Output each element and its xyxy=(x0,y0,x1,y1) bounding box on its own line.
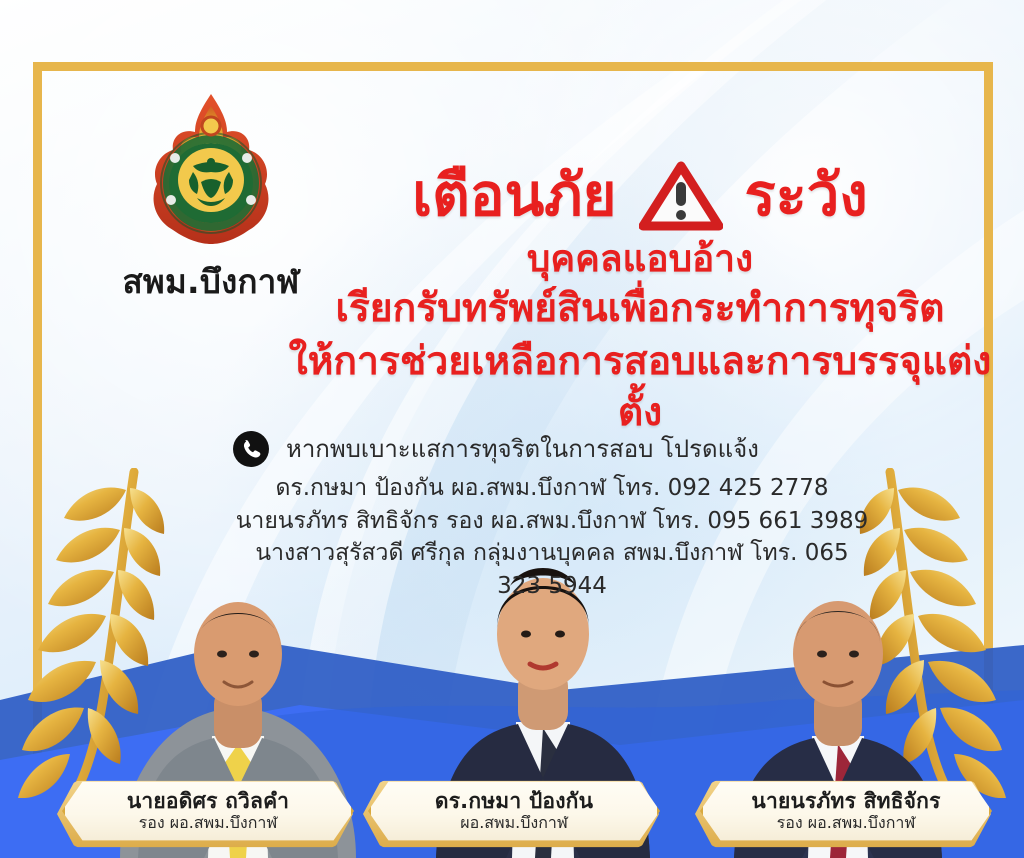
headline-word-caution: ระวัง xyxy=(745,166,868,225)
contact-intro-row: หากพบเบาะแสการทุจริตในการสอบ โปรดแจ้ง xyxy=(232,430,872,468)
contact-entry: นายนรภัทร สิทธิจักร รอง ผอ.สพม.บึงกาฬ โท… xyxy=(232,505,872,538)
nameplate-name: ดร.กษมา ป้องกัน xyxy=(435,790,593,813)
contact-entry-list: ดร.กษมา ป้องกัน ผอ.สพม.บึงกาฬ โทร. 092 4… xyxy=(232,472,872,603)
nameplate-title: รอง ผอ.สพม.บึงกาฬ xyxy=(777,814,916,832)
poster-canvas: สพม.บึงกาฬ เตือนภัย ระวัง บุคคลแอบอ้าง เ… xyxy=(0,0,1024,858)
phone-icon xyxy=(232,430,270,468)
headline-word-warning: เตือนภัย xyxy=(412,166,616,225)
nameplate-name: นายนรภัทร สิทธิจักร xyxy=(751,790,940,813)
nameplate-adisorn: นายอดิศร ถวิลคำ รอง ผอ.สพม.บึงกาฬ xyxy=(62,776,354,846)
nameplate-norapat: นายนรภัทร สิทธิจักร รอง ผอ.สพม.บึงกาฬ xyxy=(700,776,992,846)
contact-intro-text: หากพบเบาะแสการทุจริตในการสอบ โปรดแจ้ง xyxy=(286,436,759,462)
headline-row-primary: เตือนภัย ระวัง xyxy=(278,160,1002,232)
thai-ministry-of-education-emblem-icon xyxy=(131,88,291,263)
headline-block: เตือนภัย ระวัง บุคคลแอบอ้าง เรียกรับทรัพ… xyxy=(278,160,1002,438)
headline-line-3: เรียกรับทรัพย์สินเพื่อกระทำการทุจริต xyxy=(278,284,1002,335)
warning-triangle-icon xyxy=(639,160,723,232)
contact-block: หากพบเบาะแสการทุจริตในการสอบ โปรดแจ้ง ดร… xyxy=(232,430,872,603)
nameplate-title: รอง ผอ.สพม.บึงกาฬ xyxy=(139,814,278,832)
headline-line-2: บุคคลแอบอ้าง xyxy=(278,236,1002,282)
contact-entry: นางสาวสุรัสวดี ศรีกุล กลุ่มงานบุคคล สพม.… xyxy=(232,537,872,602)
nameplate-kasama: ดร.กษมา ป้องกัน ผอ.สพม.บึงกาฬ xyxy=(368,776,660,846)
nameplate-name: นายอดิศร ถวิลคำ xyxy=(127,790,289,813)
nameplate-title: ผอ.สพม.บึงกาฬ xyxy=(460,814,568,832)
contact-entry: ดร.กษมา ป้องกัน ผอ.สพม.บึงกาฬ โทร. 092 4… xyxy=(232,472,872,505)
headline-line-4: ให้การช่วยเหลือการสอบและการบรรจุแต่งตั้ง xyxy=(278,337,1002,438)
